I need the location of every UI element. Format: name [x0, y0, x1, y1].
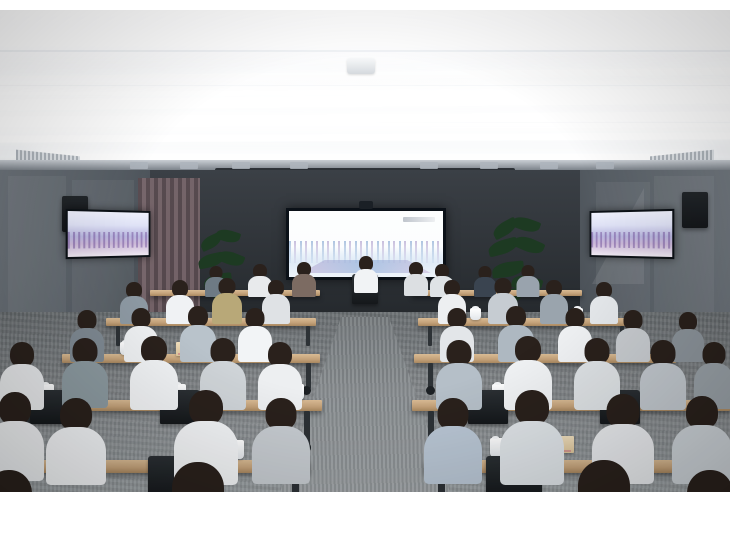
- ceiling-light-strip: [0, 92, 730, 110]
- ceiling-vent: [596, 162, 614, 169]
- attendee: [0, 470, 52, 492]
- attendee: [424, 398, 482, 482]
- conference-room-photograph: 姓 名: [0, 10, 730, 492]
- cityscape-skyline: [591, 232, 672, 249]
- attendee: [292, 262, 316, 296]
- attendee: [150, 462, 246, 492]
- table-caster: [426, 386, 435, 395]
- ceiling-sensor-icon: [347, 58, 375, 74]
- ceiling-vent: [290, 162, 308, 169]
- left-display-content: [68, 211, 149, 257]
- attendee: [46, 398, 106, 482]
- left-display-screen[interactable]: [66, 209, 151, 259]
- ceiling-vent: [130, 162, 148, 169]
- ceiling-seam: [0, 85, 730, 86]
- attendee: [252, 398, 310, 482]
- right-display-screen[interactable]: [590, 209, 675, 259]
- screen-overlay-text: [403, 217, 435, 222]
- attendee: [500, 390, 564, 482]
- room-interior: 姓 名: [0, 170, 730, 492]
- table-leg: [428, 326, 432, 346]
- screenshot-frame: 姓 名: [0, 0, 730, 548]
- cityscape-skyline: [68, 232, 149, 249]
- ceiling-vent: [232, 162, 250, 169]
- attendee: [0, 392, 44, 478]
- right-display-content: [591, 211, 672, 257]
- ceiling-light-strip: [0, 132, 730, 142]
- attendee: [62, 338, 108, 406]
- table-leg: [306, 326, 310, 346]
- ceiling-vent: [180, 162, 198, 169]
- attendee: [666, 470, 730, 492]
- ceiling-light-strip: [0, 111, 730, 125]
- screen-mount: [359, 201, 373, 209]
- attendee: [516, 265, 539, 296]
- ceiling-vent: [480, 162, 498, 169]
- wall-speaker-right: [682, 192, 708, 228]
- presenter: [354, 256, 378, 290]
- ceiling-vent: [540, 162, 558, 169]
- ceiling: [0, 10, 730, 170]
- attendee: [590, 282, 618, 322]
- ceiling-vent: [420, 162, 438, 169]
- ceiling-seam: [0, 50, 730, 52]
- wall-panel: [8, 176, 66, 326]
- attendee: [130, 336, 178, 408]
- presenter: [404, 262, 428, 294]
- attendee: [556, 460, 652, 492]
